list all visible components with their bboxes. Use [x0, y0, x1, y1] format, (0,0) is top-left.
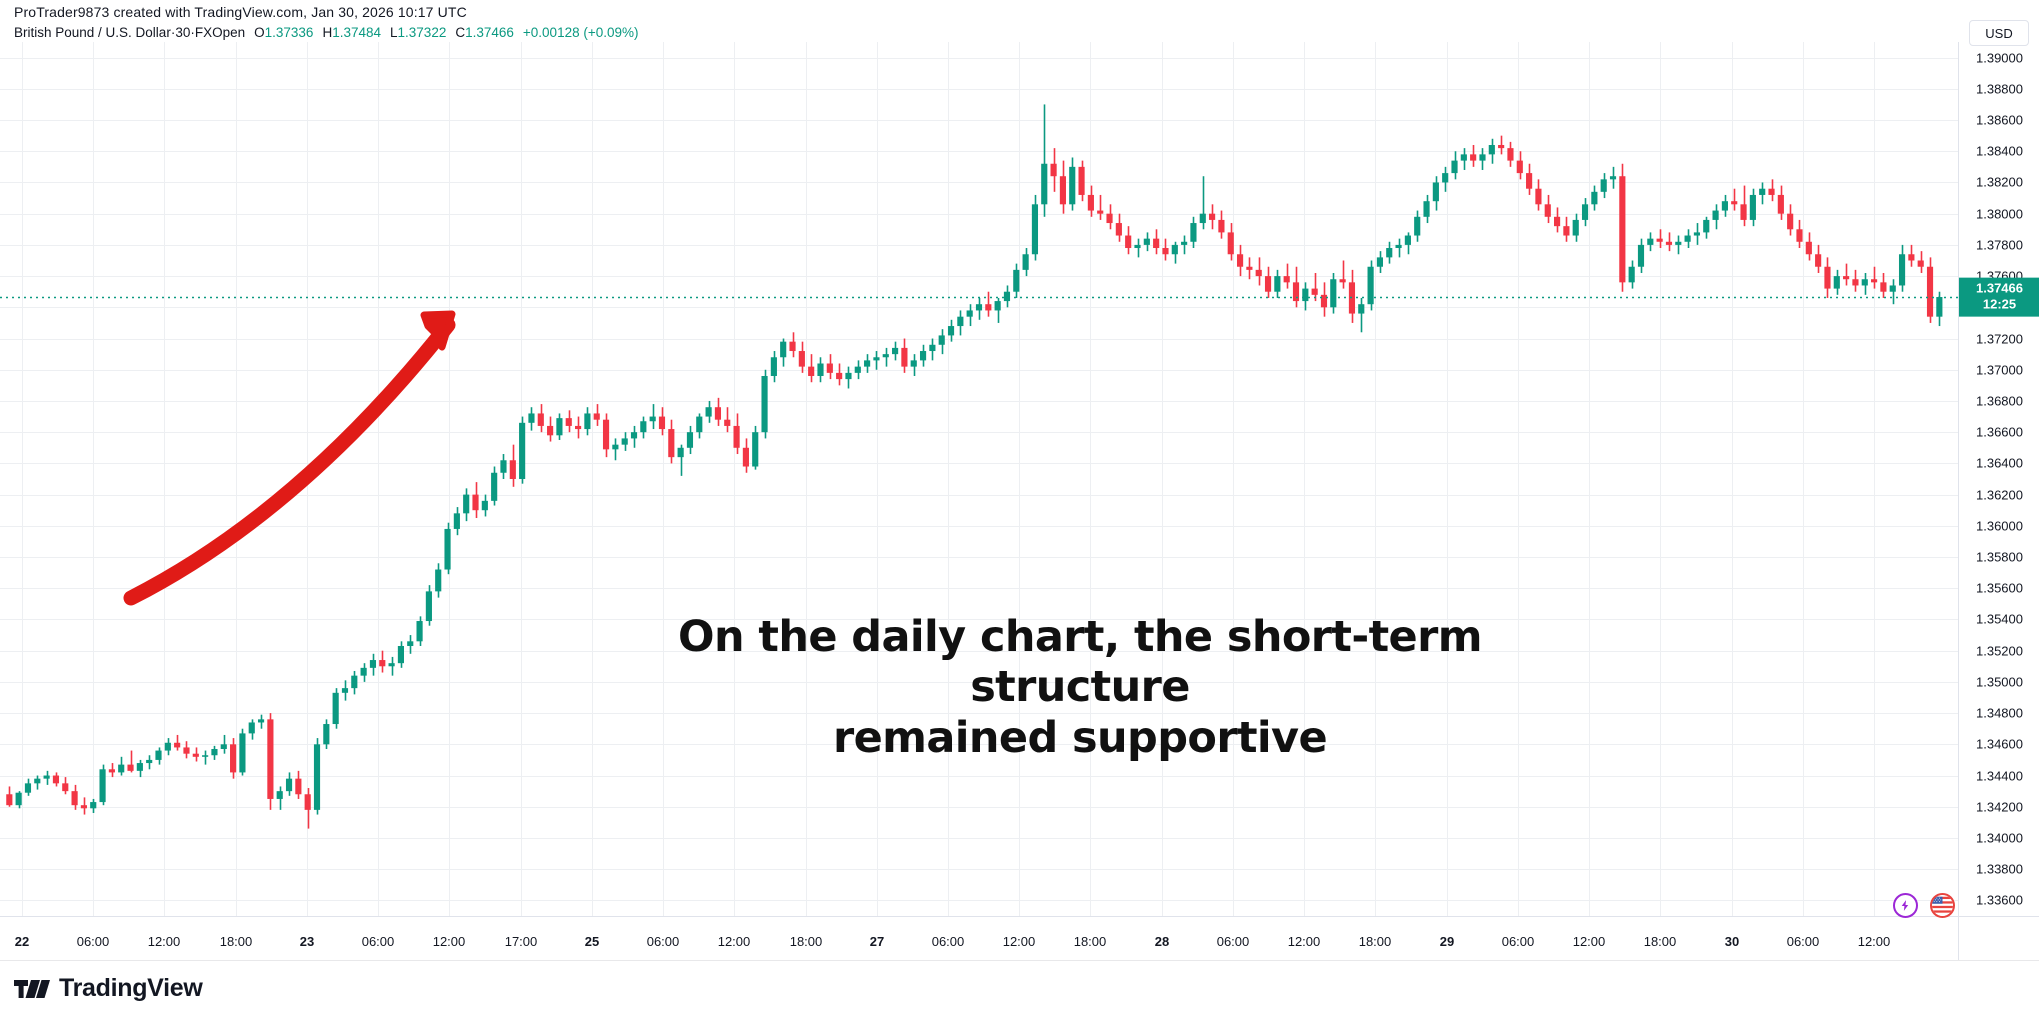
legend-open: O1.37336 — [254, 25, 313, 40]
time-axis-tick: 17:00 — [505, 934, 538, 949]
chart-legend: British Pound / U.S. Dollar · 30 · FXOpe… — [14, 25, 639, 40]
price-axis-tick: 1.37800 — [1959, 237, 2039, 252]
legend-high-value: 1.37484 — [332, 25, 381, 40]
legend-low: L1.37322 — [390, 25, 446, 40]
price-axis-tick: 1.35200 — [1959, 643, 2039, 658]
price-axis-tick: 1.36600 — [1959, 425, 2039, 440]
time-axis-tick: 22 — [15, 934, 29, 949]
legend-high: H1.37484 — [322, 25, 381, 40]
tradingview-mark-icon — [14, 978, 50, 1000]
chart-plot-area[interactable] — [0, 42, 1958, 916]
tradingview-logo[interactable]: TradingView — [14, 974, 203, 1003]
price-axis-tick: 1.38800 — [1959, 81, 2039, 96]
price-axis-tick: 1.37200 — [1959, 331, 2039, 346]
legend-open-value: 1.37336 — [265, 25, 314, 40]
price-axis-tick: 1.33800 — [1959, 862, 2039, 877]
lightning-bolt-icon[interactable] — [1893, 893, 1918, 918]
price-axis-tick: 1.38400 — [1959, 144, 2039, 159]
time-axis-corner — [1958, 916, 2039, 960]
tradingview-wordmark: TradingView — [59, 974, 203, 1003]
time-axis-tick: 23 — [300, 934, 314, 949]
time-axis-tick: 30 — [1725, 934, 1739, 949]
current-price-time: 12:25 — [1959, 297, 2039, 313]
price-axis-tick: 1.36000 — [1959, 518, 2039, 533]
legend-high-key: H — [322, 25, 332, 40]
current-price-badge[interactable]: 1.37466 12:25 — [1959, 278, 2039, 317]
price-axis-tick: 1.34000 — [1959, 830, 2039, 845]
time-axis-tick: 06:00 — [647, 934, 680, 949]
legend-change: +0.00128 (+0.09%) — [523, 25, 639, 40]
tradingview-chart-screenshot: ProTrader9873 created with TradingView.c… — [0, 0, 2039, 1017]
time-axis-tick: 06:00 — [1217, 934, 1250, 949]
price-axis-tick: 1.37000 — [1959, 362, 2039, 377]
price-axis-tick: 1.35400 — [1959, 612, 2039, 627]
price-axis-tick: 1.38600 — [1959, 113, 2039, 128]
annotation-text: On the daily chart, the short-term struc… — [620, 612, 1540, 763]
time-axis-tick: 06:00 — [362, 934, 395, 949]
price-axis-tick: 1.34400 — [1959, 768, 2039, 783]
price-axis-tick: 1.36800 — [1959, 393, 2039, 408]
price-axis-tick: 1.38200 — [1959, 175, 2039, 190]
price-axis-tick: 1.34200 — [1959, 799, 2039, 814]
price-axis[interactable]: USD 1.390001.388001.386001.384001.382001… — [1958, 42, 2039, 916]
time-axis-tick: 25 — [585, 934, 599, 949]
legend-close-value: 1.37466 — [465, 25, 514, 40]
time-axis-tick: 12:00 — [148, 934, 181, 949]
time-axis-tick: 06:00 — [1787, 934, 1820, 949]
time-axis-tick: 29 — [1440, 934, 1454, 949]
price-axis-tick: 1.35800 — [1959, 550, 2039, 565]
time-axis-tick: 12:00 — [718, 934, 751, 949]
time-axis-tick: 12:00 — [1858, 934, 1891, 949]
legend-exchange[interactable]: FXOpen — [195, 25, 245, 40]
time-axis-tick: 18:00 — [1074, 934, 1107, 949]
time-axis-tick: 18:00 — [220, 934, 253, 949]
price-axis-tick: 1.33600 — [1959, 893, 2039, 908]
us-flag-icon[interactable] — [1930, 893, 1955, 918]
currency-label[interactable]: USD — [1969, 20, 2029, 46]
legend-interval[interactable]: 30 — [175, 25, 190, 40]
annotation-line-2: remained supportive — [620, 713, 1540, 763]
legend-open-key: O — [254, 25, 265, 40]
annotation-line-1: On the daily chart, the short-term struc… — [678, 612, 1482, 712]
legend-low-key: L — [390, 25, 398, 40]
price-axis-tick: 1.34600 — [1959, 737, 2039, 752]
time-axis-tick: 18:00 — [1644, 934, 1677, 949]
time-axis-tick: 12:00 — [1573, 934, 1606, 949]
attribution-text: ProTrader9873 created with TradingView.c… — [14, 4, 467, 20]
legend-close: C1.37466 — [455, 25, 514, 40]
time-axis-tick: 28 — [1155, 934, 1169, 949]
time-axis[interactable]: 2206:0012:0018:002306:0012:0017:002506:0… — [0, 916, 1958, 960]
time-axis-tick: 12:00 — [1003, 934, 1036, 949]
price-axis-tick: 1.38000 — [1959, 206, 2039, 221]
price-axis-tick: 1.39000 — [1959, 50, 2039, 65]
time-axis-tick: 06:00 — [77, 934, 110, 949]
time-axis-tick: 27 — [870, 934, 884, 949]
price-axis-tick: 1.36400 — [1959, 456, 2039, 471]
red-trend-arrow — [131, 314, 452, 598]
time-axis-tick: 06:00 — [1502, 934, 1535, 949]
price-axis-tick: 1.36200 — [1959, 487, 2039, 502]
legend-low-value: 1.37322 — [398, 25, 447, 40]
footer-bar: TradingView — [0, 960, 2039, 1017]
time-axis-tick: 18:00 — [1359, 934, 1392, 949]
legend-symbol[interactable]: British Pound / U.S. Dollar — [14, 25, 171, 40]
time-axis-tick: 12:00 — [433, 934, 466, 949]
price-axis-tick: 1.35600 — [1959, 581, 2039, 596]
time-axis-tick: 12:00 — [1288, 934, 1321, 949]
price-axis-tick: 1.34800 — [1959, 706, 2039, 721]
price-axis-tick: 1.35000 — [1959, 674, 2039, 689]
current-price-value: 1.37466 — [1959, 281, 2039, 297]
legend-close-key: C — [455, 25, 465, 40]
time-axis-tick: 18:00 — [790, 934, 823, 949]
time-axis-tick: 06:00 — [932, 934, 965, 949]
